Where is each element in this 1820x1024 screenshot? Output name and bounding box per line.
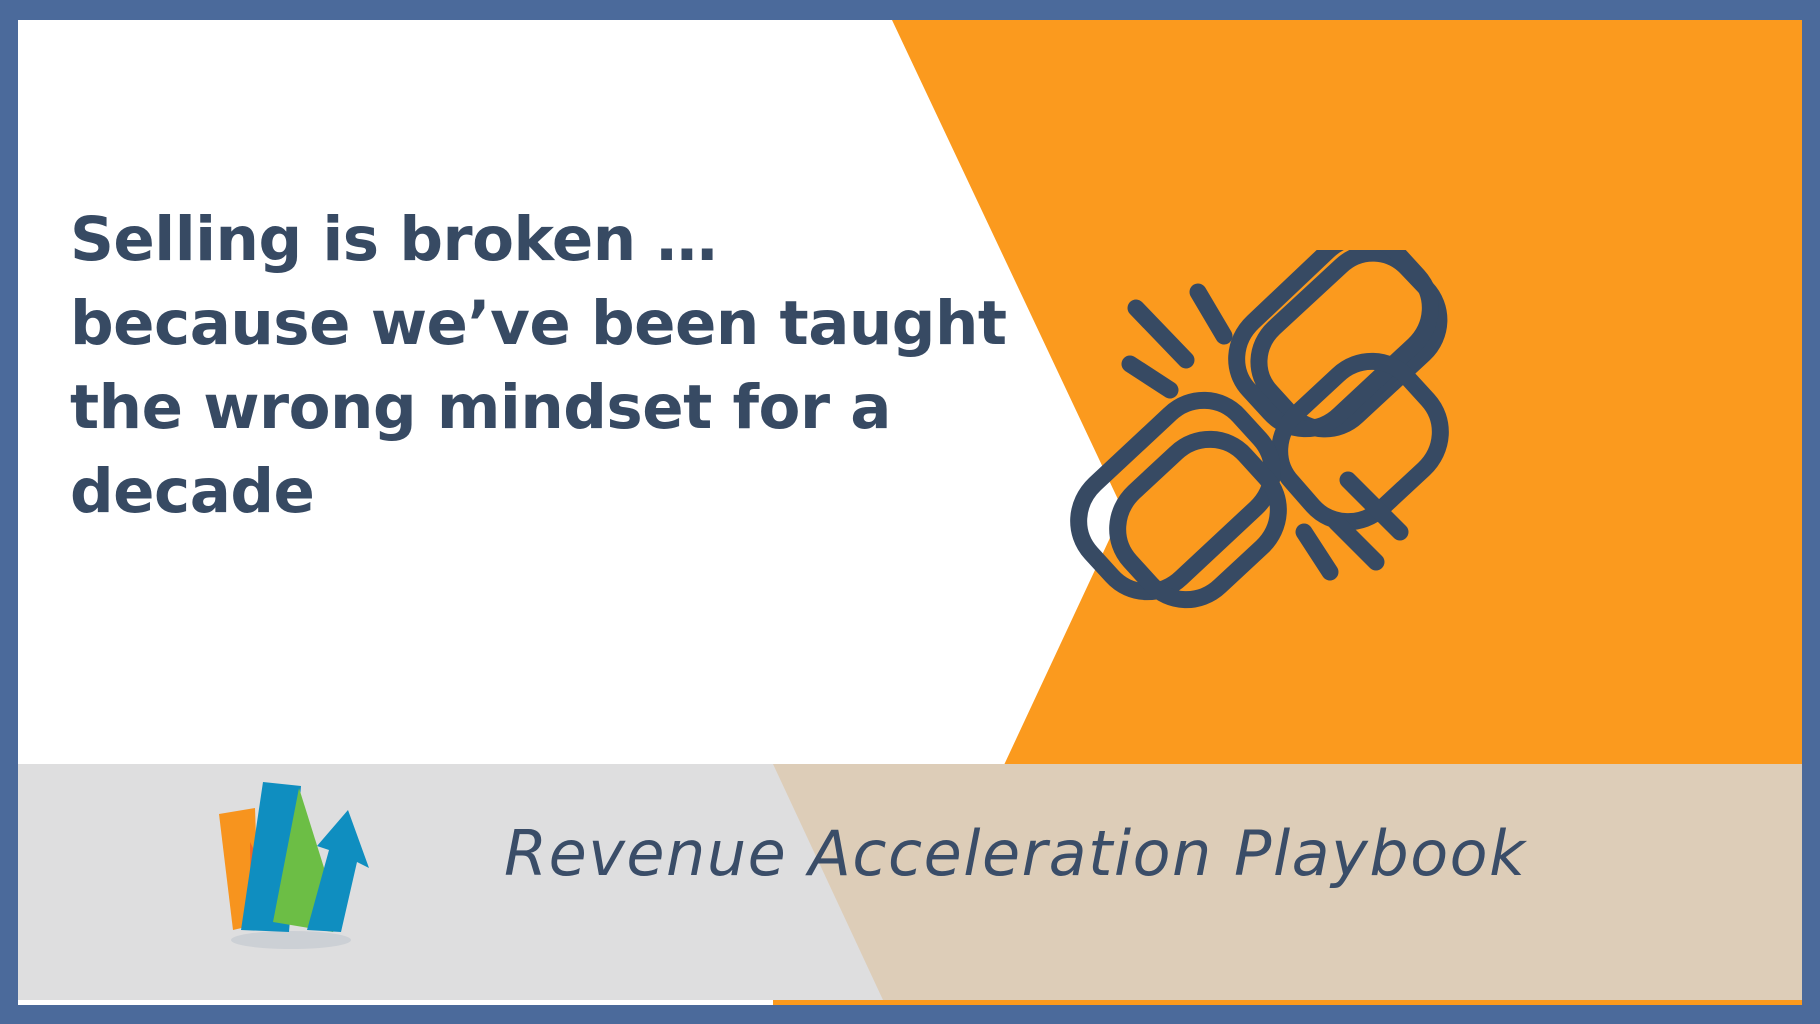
- slide-inner-canvas: Selling is broken … because we’ve been t…: [18, 20, 1802, 1005]
- headline-line-3: the wrong mindset for a: [70, 366, 900, 450]
- footer-orange-strip: [773, 1000, 1802, 1005]
- logo-shadow: [231, 931, 351, 949]
- headline-line-2: because we’ve been taught: [70, 282, 900, 366]
- tagline: Revenue Acceleration Playbook: [504, 798, 1526, 908]
- broken-chain-link-icon: [1058, 250, 1458, 610]
- headline-line-1: Selling is broken …: [70, 198, 900, 282]
- page-title: Selling is broken … because we’ve been t…: [70, 198, 900, 534]
- slide-canvas: Selling is broken … because we’ve been t…: [0, 0, 1820, 1024]
- headline-line-4: decade: [70, 450, 900, 534]
- brand-logo: [193, 772, 393, 962]
